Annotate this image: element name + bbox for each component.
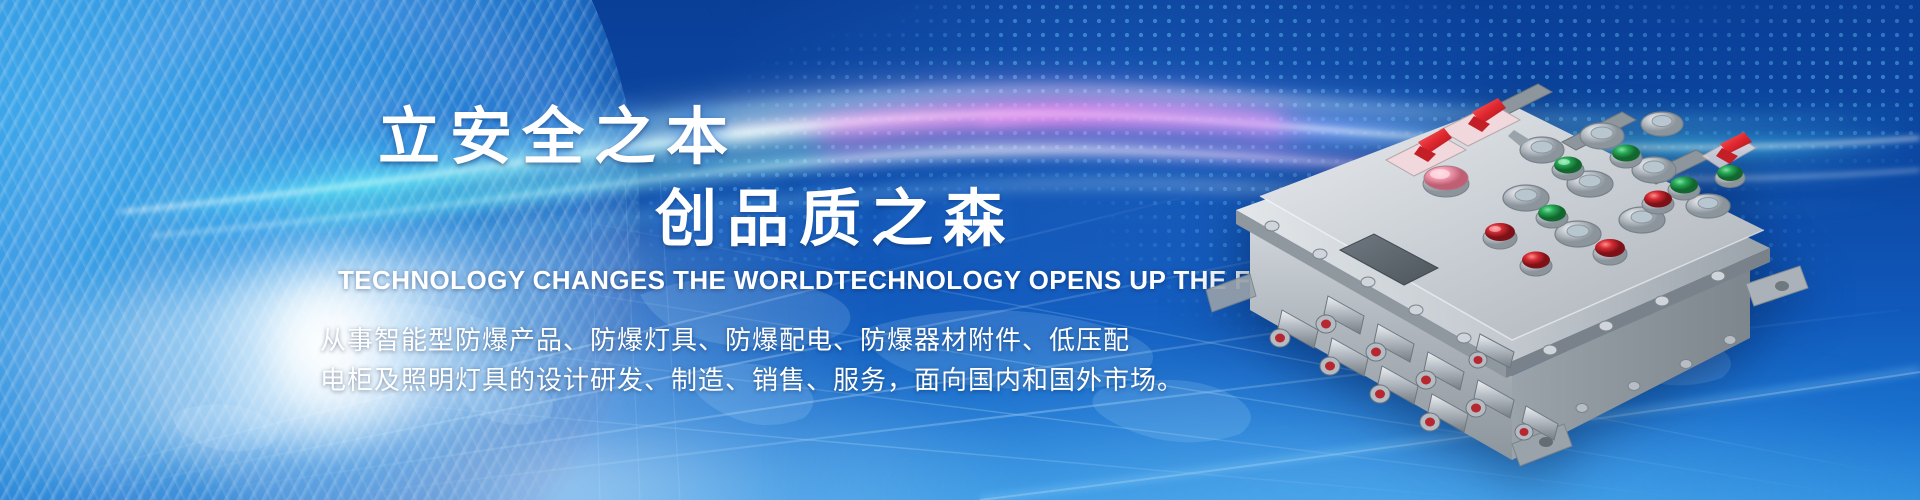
indicator-green (1668, 177, 1700, 201)
toggle-switch-3 (1702, 132, 1756, 168)
headline-line-2: 创品质之森 (655, 168, 1015, 258)
indicator-green (1715, 165, 1745, 188)
indicator-green (1610, 145, 1642, 169)
indicator-green (1552, 157, 1584, 181)
description-line-2: 电柜及照明灯具的设计研发、制造、销售、服务，面向国内和国外市场。 (320, 360, 1184, 400)
hero-banner: 立安全之本 创品质之森 TECHNOLOGY CHANGES THE WORLD… (0, 0, 1920, 500)
emergency-stop-button (1423, 166, 1469, 197)
description-line-1: 从事智能型防爆产品、防爆灯具、防爆配电、防爆器材附件、低压配 (320, 320, 1184, 360)
headline-line-1: 立安全之本 (378, 86, 738, 176)
description-block: 从事智能型防爆产品、防爆灯具、防爆配电、防爆器材附件、低压配 电柜及照明灯具的设… (320, 320, 1184, 400)
explosion-proof-control-box (1190, 38, 1890, 468)
indicator-red (1483, 223, 1517, 249)
indicator-red (1520, 252, 1552, 277)
indicator-green (1536, 205, 1568, 229)
banner-copy: 立安全之本 创品质之森 TECHNOLOGY CHANGES THE WORLD… (0, 0, 1250, 500)
indicator-red (1593, 239, 1627, 265)
indicator-red (1642, 191, 1674, 215)
